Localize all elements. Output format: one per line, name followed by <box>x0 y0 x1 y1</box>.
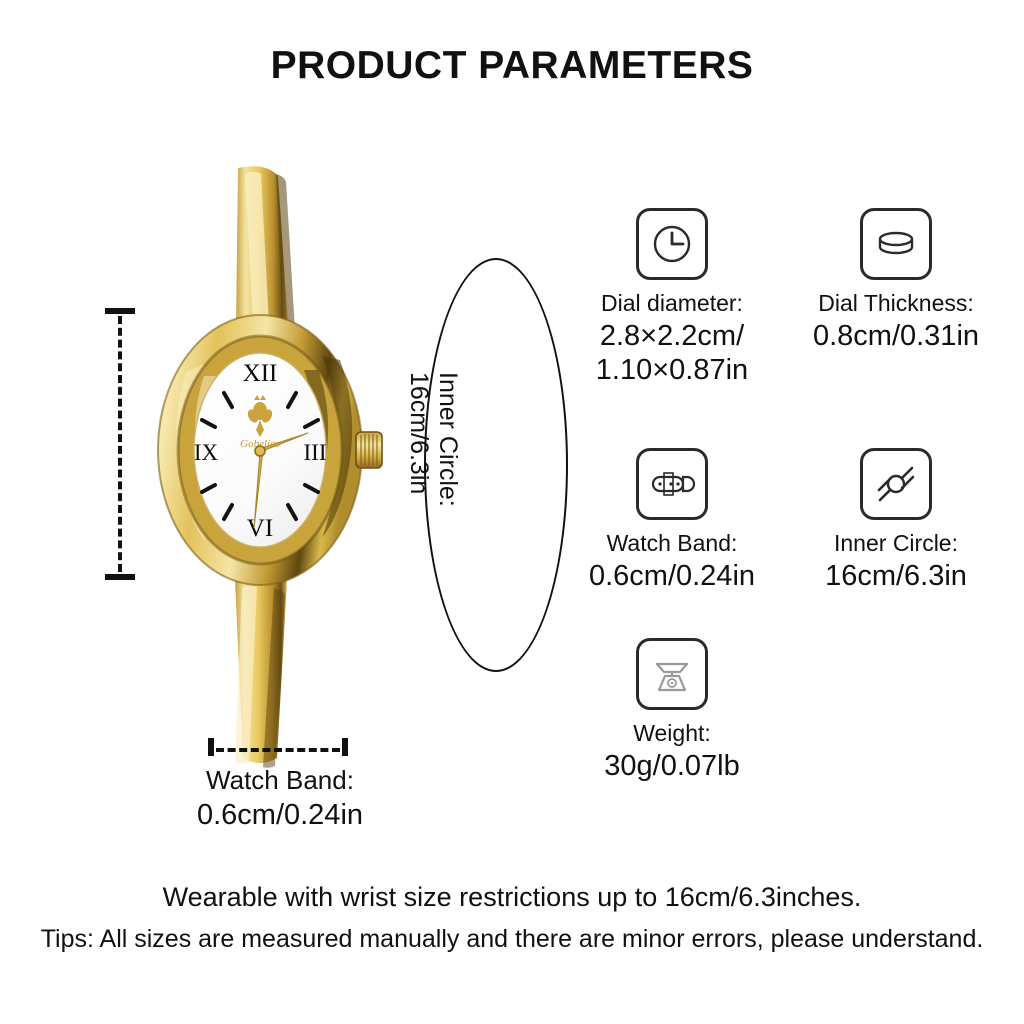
watch-band-dimension-value: 0.6cm/0.24in <box>120 797 440 833</box>
svg-text:XII: XII <box>243 360 278 387</box>
spec-label: Inner Circle: <box>786 530 1006 558</box>
spec-value-line-1: 0.8cm/0.31in <box>813 320 979 352</box>
svg-text:IX: IX <box>194 440 219 465</box>
spec-value: 30g/0.07lb <box>562 749 782 784</box>
spec-value: 16cm/6.3in <box>786 559 1006 594</box>
dimension-cap-left <box>208 738 214 756</box>
inner-circle-ellipse-value: 16cm/6.3in <box>405 372 434 507</box>
spec-card-weight: Weight: 30g/0.07lb <box>562 638 782 783</box>
dimension-cap-bottom <box>105 574 135 580</box>
spec-value-line-2: 1.10×0.87in <box>562 353 782 388</box>
watch-product-image: XII III VI IX <box>150 150 440 770</box>
spec-value-line-1: 30g/0.07lb <box>604 750 739 782</box>
spec-label: Watch Band: <box>562 530 782 558</box>
dimension-dashed-line <box>118 316 122 572</box>
watch-band-dimension-label: Watch Band: 0.6cm/0.24in <box>120 764 440 833</box>
svg-text:VI: VI <box>247 515 273 542</box>
spec-value: 0.8cm/0.31in <box>786 319 1006 354</box>
spec-value: 0.6cm/0.24in <box>562 559 782 594</box>
spec-card-watch-band: Watch Band: 0.6cm/0.24in <box>562 448 782 593</box>
horizontal-dimension-line <box>208 742 348 756</box>
footer-line-1: Wearable with wrist size restrictions up… <box>0 882 1024 913</box>
dimension-dashed-line-horizontal <box>216 748 340 752</box>
spec-value-line-1: 2.8×2.2cm/ <box>600 320 744 352</box>
watch-band-dimension-title: Watch Band: <box>120 764 440 797</box>
spec-label: Dial Thickness: <box>786 290 1006 318</box>
footer-line-2: Tips: All sizes are measured manually an… <box>0 925 1024 954</box>
spec-card-dial-diameter: Dial diameter: 2.8×2.2cm/ 1.10×0.87in <box>562 208 782 388</box>
watch-strap-icon <box>636 448 708 520</box>
spec-value: 2.8×2.2cm/ 1.10×0.87in <box>562 319 782 389</box>
inner-circle-ellipse-label: Inner Circle: 16cm/6.3in <box>405 372 463 507</box>
spec-label: Weight: <box>562 720 782 748</box>
spec-label: Dial diameter: <box>562 290 782 318</box>
dimension-cap-top <box>105 308 135 314</box>
dimension-cap-right <box>342 738 348 756</box>
spec-card-dial-thickness: Dial Thickness: 0.8cm/0.31in <box>786 208 1006 353</box>
disc-thickness-icon <box>860 208 932 280</box>
spec-card-inner-circle: Inner Circle: 16cm/6.3in <box>786 448 1006 593</box>
spec-value-line-1: 0.6cm/0.24in <box>589 560 755 592</box>
footer-notes: Wearable with wrist size restrictions up… <box>0 882 1024 954</box>
kitchen-scale-icon <box>636 638 708 710</box>
inner-circle-ellipse-title: Inner Circle: <box>434 372 462 507</box>
svg-text:III: III <box>304 440 327 465</box>
bangle-circle-icon <box>860 448 932 520</box>
watch-crown <box>356 432 382 468</box>
vertical-dimension-line <box>118 308 120 580</box>
product-parameters-page: PRODUCT PARAMETERS <box>0 0 1024 1024</box>
clock-icon <box>636 208 708 280</box>
page-title: PRODUCT PARAMETERS <box>0 44 1024 88</box>
spec-value-line-1: 16cm/6.3in <box>825 560 967 592</box>
